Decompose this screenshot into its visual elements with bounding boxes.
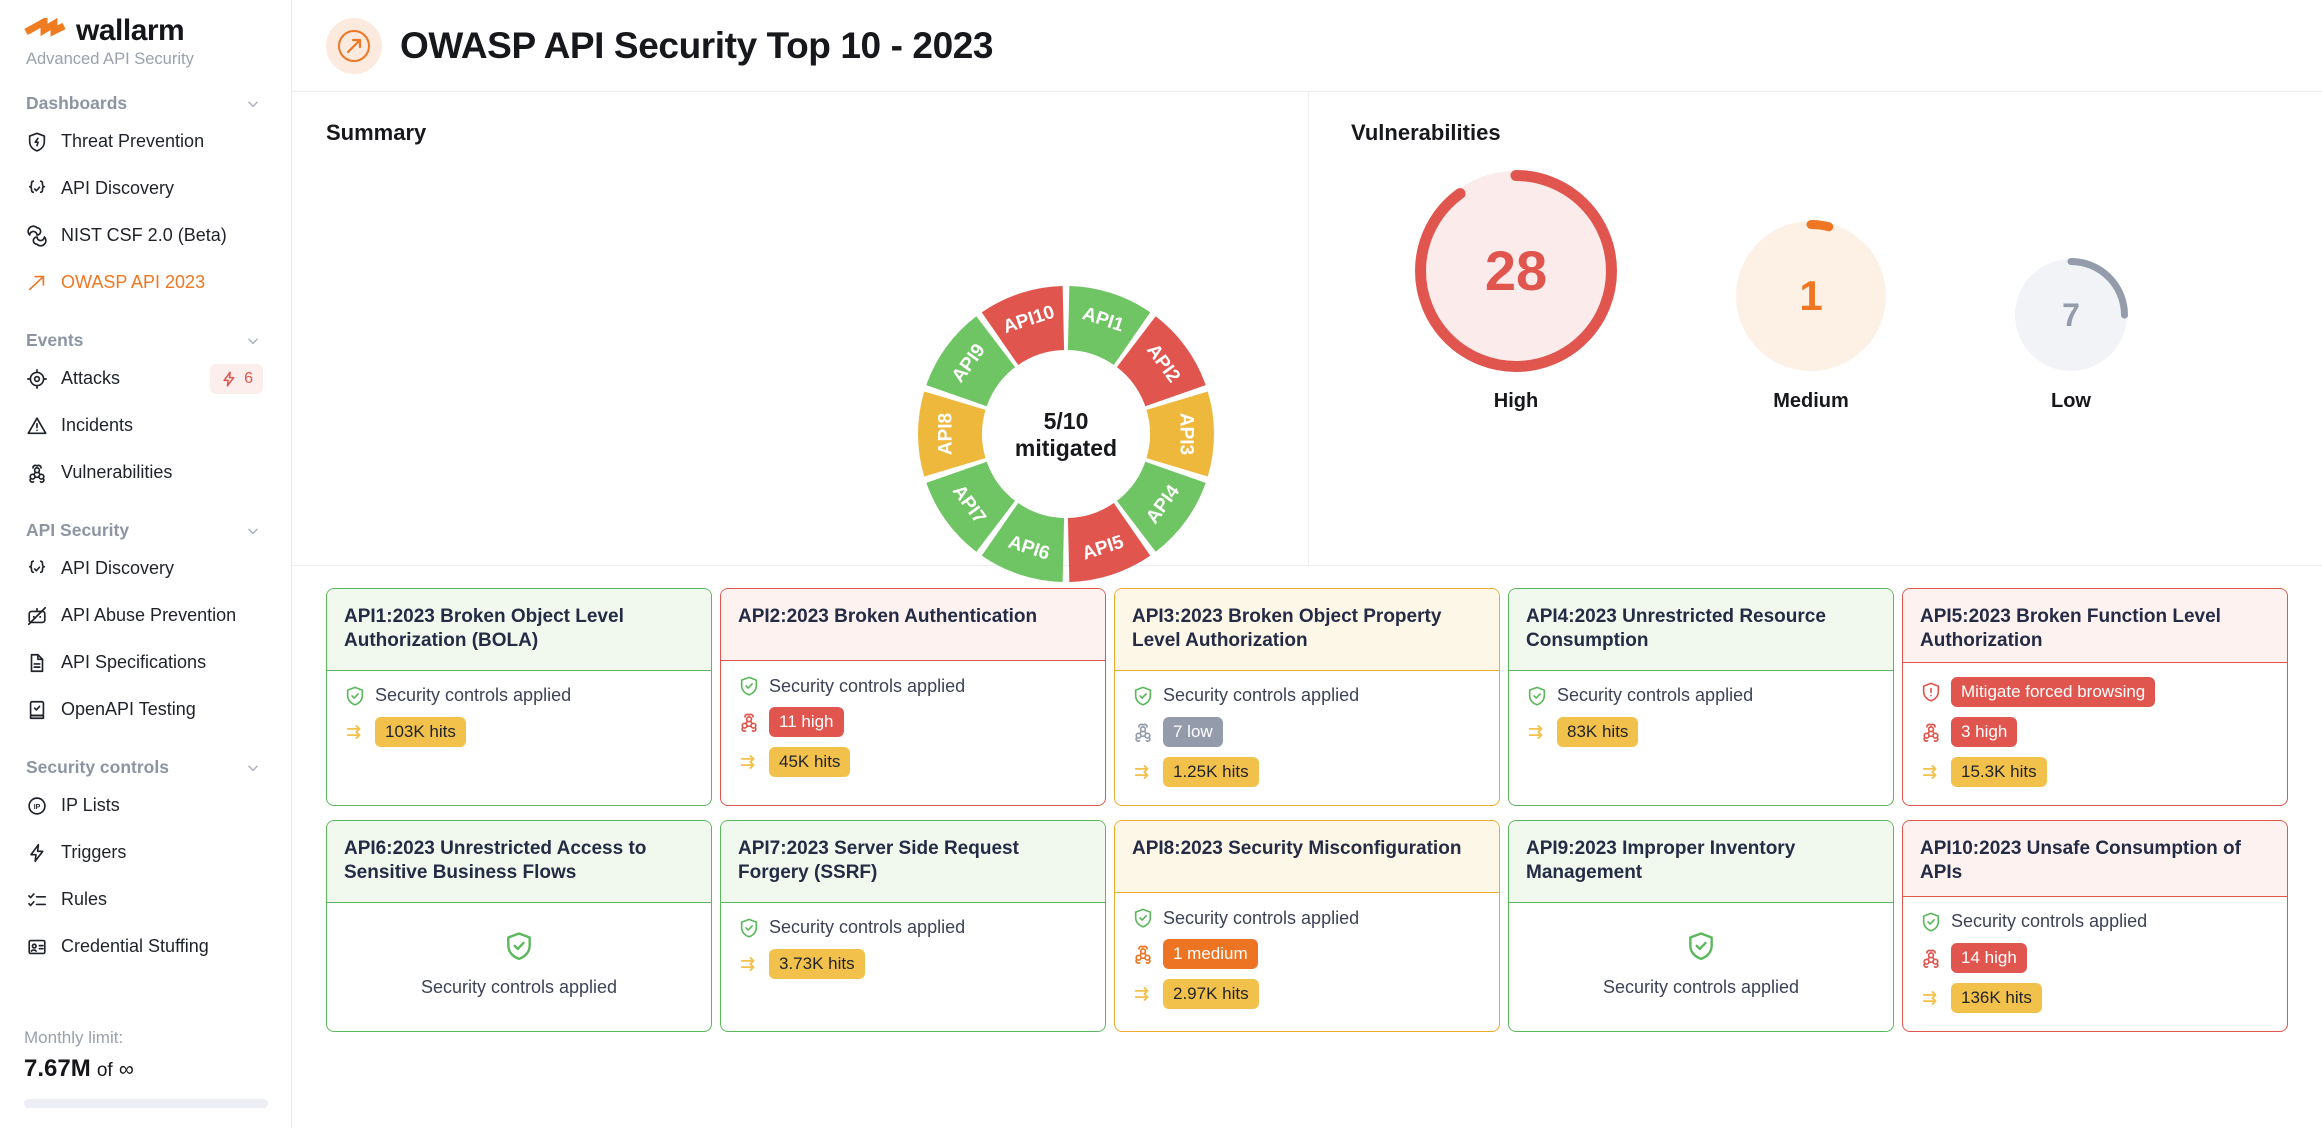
owasp-donut-chart: API1API2API3API4API5API6API7API8API9API1…: [892, 260, 1240, 608]
owasp-card-status-text: Security controls applied: [769, 676, 965, 697]
shield-check-icon: [1685, 930, 1717, 967]
page-title: OWASP API Security Top 10 - 2023: [400, 25, 993, 67]
sidebar-item-incidents[interactable]: Incidents: [24, 402, 267, 449]
id-card-icon: [26, 936, 48, 958]
owasp-card-title-api10: API10:2023 Unsafe Consumption of APIs: [1903, 821, 2287, 897]
vulnerabilities-heading: Vulnerabilities: [1351, 120, 2322, 146]
sidebar-item-label: Incidents: [61, 415, 133, 436]
checklist-icon: [26, 889, 48, 911]
owasp-card-status-api9: Security controls applied: [1603, 975, 1799, 999]
sidebar-item-api-abuse-prevention[interactable]: API Abuse Prevention: [24, 592, 267, 639]
hits-arrows-icon: [1526, 721, 1548, 743]
owasp-card-api5[interactable]: API5:2023 Broken Function Level Authoriz…: [1902, 588, 2288, 806]
braces-check-icon: [26, 558, 48, 580]
cards-row-2: API6:2023 Unrestricted Access to Sensiti…: [326, 820, 2288, 1032]
sidebar-item-attacks[interactable]: Attacks6: [24, 355, 267, 402]
donut-label-api3: API3: [1176, 413, 1197, 455]
robot-off-icon: [26, 605, 48, 627]
owasp-card-api4[interactable]: API4:2023 Unrestricted Resource Consumpt…: [1508, 588, 1894, 806]
page-header: OWASP API Security Top 10 - 2023: [292, 0, 2322, 92]
owasp-card-body-api9: Security controls applied: [1509, 903, 1893, 1031]
brand-name: wallarm: [76, 14, 184, 48]
owasp-card-body-api7: Security controls applied3.73K hits: [721, 903, 1105, 1031]
hits-arrows-icon: [1132, 761, 1154, 783]
braces-check-icon: [26, 178, 48, 200]
monthly-limit-number: 7.67M: [24, 1055, 91, 1082]
sidebar-section-label: Events: [26, 330, 83, 351]
owasp-card-line: 7 low: [1132, 717, 1482, 747]
sidebar-item-triggers[interactable]: Triggers: [24, 829, 267, 876]
sidebar-item-label: Triggers: [61, 842, 126, 863]
owasp-card-line: Security controls applied: [1920, 911, 2270, 933]
owasp-card-pill[interactable]: 83K hits: [1557, 717, 1638, 747]
owasp-card-title-api5: API5:2023 Broken Function Level Authoriz…: [1903, 589, 2287, 663]
brand-logo[interactable]: wallarm: [24, 0, 267, 48]
owasp-card-pill[interactable]: 11 high: [769, 707, 844, 737]
owasp-card-pill[interactable]: 7 low: [1163, 717, 1223, 747]
shield-check-icon: [503, 930, 535, 967]
hits-arrows-icon: [1132, 983, 1154, 1005]
sidebar-item-label: Vulnerabilities: [61, 462, 172, 483]
chevron-down-icon[interactable]: [245, 760, 267, 776]
owasp-card-title-api4: API4:2023 Unrestricted Resource Consumpt…: [1509, 589, 1893, 671]
sidebar-item-nist-csf-2-0-beta-[interactable]: NIST CSF 2.0 (Beta): [24, 212, 267, 259]
owasp-card-line: 11 high: [738, 707, 1088, 737]
monthly-limit-cap: ∞: [119, 1058, 134, 1081]
shield-alert-icon: [1920, 681, 1942, 703]
hits-arrows-icon: [738, 751, 760, 773]
sidebar-section-events[interactable]: Events: [24, 330, 267, 351]
owasp-arrow-icon: [326, 18, 382, 74]
owasp-card-body-api6: Security controls applied: [327, 903, 711, 1031]
app-root: wallarm Advanced API Security Dashboards…: [0, 0, 2322, 1128]
sidebar-section-dashboards[interactable]: Dashboards: [24, 93, 267, 114]
gauge-label-low: Low: [2051, 390, 2091, 413]
owasp-card-pill[interactable]: 1 medium: [1163, 939, 1258, 969]
biohazard-icon: [1132, 721, 1154, 743]
target-icon: [26, 368, 48, 390]
owasp-card-line: 83K hits: [1526, 717, 1876, 747]
owasp-card-api2[interactable]: API2:2023 Broken AuthenticationSecurity …: [720, 588, 1106, 806]
owasp-card-body-api3: Security controls applied7 low1.25K hits: [1115, 671, 1499, 805]
sidebar-item-vulnerabilities[interactable]: Vulnerabilities: [24, 449, 267, 496]
sidebar-item-credential-stuffing[interactable]: Credential Stuffing: [24, 923, 267, 970]
cards-row-1: API1:2023 Broken Object Level Authorizat…: [326, 588, 2288, 806]
owasp-card-line: 15.3K hits: [1920, 757, 2270, 787]
nist-pinwheel-icon: [26, 225, 48, 247]
owasp-card-body-api2: Security controls applied11 high45K hits: [721, 661, 1105, 805]
shield-check-icon: [1526, 685, 1548, 707]
gauge-value-high: 28: [1485, 243, 1547, 299]
owasp-card-line: 1.25K hits: [1132, 757, 1482, 787]
owasp-card-api10[interactable]: API10:2023 Unsafe Consumption of APIsSec…: [1902, 820, 2288, 1032]
sidebar-item-label: Attacks: [61, 368, 120, 389]
sidebar-item-label: OWASP API 2023: [61, 272, 205, 293]
owasp-card-api1[interactable]: API1:2023 Broken Object Level Authorizat…: [326, 588, 712, 806]
owasp-card-title-api6: API6:2023 Unrestricted Access to Sensiti…: [327, 821, 711, 903]
owasp-card-api7[interactable]: API7:2023 Server Side Request Forgery (S…: [720, 820, 1106, 1032]
sidebar: wallarm Advanced API Security Dashboards…: [0, 0, 292, 1128]
owasp-card-status-text: Security controls applied: [375, 685, 571, 706]
biohazard-icon: [1920, 947, 1942, 969]
gauge-label-high: High: [1494, 390, 1538, 413]
owasp-card-line: 3.73K hits: [738, 949, 1088, 979]
gauge-ring-medium: 1: [1735, 220, 1887, 372]
sidebar-item-threat-prevention[interactable]: Threat Prevention: [24, 118, 267, 165]
sidebar-section-api-security[interactable]: API Security: [24, 520, 267, 541]
gauge-ring-high: 28: [1415, 170, 1617, 372]
summary-heading: Summary: [326, 120, 1308, 146]
owasp-card-api3[interactable]: API3:2023 Broken Object Property Level A…: [1114, 588, 1500, 806]
owasp-card-line: 1 medium: [1132, 939, 1482, 969]
monthly-limit-of: of: [97, 1060, 113, 1081]
hits-arrows-icon: [344, 721, 366, 743]
sidebar-section-security-controls[interactable]: Security controls: [24, 757, 267, 778]
vulnerability-gauge-medium[interactable]: 1Medium: [1671, 220, 1951, 413]
donut-label-api8: API8: [936, 413, 957, 455]
owasp-card-pill[interactable]: 3.73K hits: [769, 949, 865, 979]
owasp-card-api9[interactable]: API9:2023 Improper Inventory ManagementS…: [1508, 820, 1894, 1032]
sidebar-item-label: OpenAPI Testing: [61, 699, 196, 720]
owasp-card-pill[interactable]: 2.97K hits: [1163, 979, 1259, 1009]
owasp-card-body-api8: Security controls applied1 medium2.97K h…: [1115, 893, 1499, 1031]
chevron-down-icon[interactable]: [245, 96, 267, 112]
donut-center-label: mitigated: [1015, 435, 1117, 461]
chevron-down-icon[interactable]: [245, 333, 267, 349]
vulnerability-gauge-high[interactable]: 28High: [1361, 170, 1671, 413]
owasp-cards-area: API1:2023 Broken Object Level Authorizat…: [292, 566, 2322, 1128]
owasp-card-line: 14 high: [1920, 943, 2270, 973]
owasp-card-status-text: Security controls applied: [1557, 685, 1753, 706]
chevron-down-icon[interactable]: [245, 523, 267, 539]
sidebar-item-label: Credential Stuffing: [61, 936, 209, 957]
sidebar-item-label: Rules: [61, 889, 107, 910]
shield-check-icon: [1132, 907, 1154, 929]
overview-panels: Summary API1API2API3API4API5API6API7API8…: [292, 92, 2322, 566]
sidebar-item-api-discovery[interactable]: API Discovery: [24, 165, 267, 212]
owasp-card-title-api1: API1:2023 Broken Object Level Authorizat…: [327, 589, 711, 671]
owasp-card-status-text: Security controls applied: [769, 917, 965, 938]
attacks-count: 6: [244, 370, 253, 388]
owasp-card-body-api10: Security controls applied14 high136K hit…: [1903, 897, 2287, 1031]
monthly-limit-value: 7.67M of ∞: [24, 1055, 268, 1083]
vulnerabilities-panel: Vulnerabilities 28High1Medium7Low: [1309, 92, 2322, 565]
owasp-card-pill[interactable]: Mitigate forced browsing: [1951, 677, 2155, 707]
owasp-card-body-api5: Mitigate forced browsing3 high15.3K hits: [1903, 663, 2287, 805]
svg-text:IP: IP: [34, 804, 41, 811]
owasp-card-pill[interactable]: 136K hits: [1951, 983, 2042, 1013]
brand-tagline: Advanced API Security: [24, 50, 267, 69]
owasp-card-pill[interactable]: 15.3K hits: [1951, 757, 2047, 787]
gauge-value-low: 7: [2062, 299, 2080, 331]
shield-check-icon: [1920, 911, 1942, 933]
document-icon: [26, 652, 48, 674]
owasp-card-status-text: Security controls applied: [1163, 908, 1359, 929]
owasp-card-status-text: Security controls applied: [1163, 685, 1359, 706]
attacks-count-badge[interactable]: 6: [210, 364, 263, 394]
owasp-card-line: Security controls applied: [1132, 685, 1482, 707]
sidebar-item-owasp-api-2023[interactable]: OWASP API 2023: [24, 259, 267, 306]
wallarm-logo-icon: [24, 18, 66, 44]
owasp-card-line: Security controls applied: [1526, 685, 1876, 707]
hits-arrows-icon: [1920, 761, 1942, 783]
hits-arrows-icon: [1920, 987, 1942, 1009]
biohazard-icon: [26, 462, 48, 484]
sidebar-section-label: Dashboards: [26, 93, 127, 114]
sidebar-section-label: Security controls: [26, 757, 169, 778]
owasp-card-body-api4: Security controls applied83K hits: [1509, 671, 1893, 805]
owasp-card-line: 136K hits: [1920, 983, 2270, 1013]
biohazard-icon: [738, 711, 760, 733]
warning-triangle-icon: [26, 415, 48, 437]
owasp-card-pill[interactable]: 103K hits: [375, 717, 466, 747]
gauge-value-medium: 1: [1799, 275, 1822, 317]
hits-arrows-icon: [738, 953, 760, 975]
owasp-card-title-api7: API7:2023 Server Side Request Forgery (S…: [721, 821, 1105, 903]
owasp-card-body-api1: Security controls applied103K hits: [327, 671, 711, 805]
owasp-card-line: 2.97K hits: [1132, 979, 1482, 1009]
owasp-card-pill[interactable]: 3 high: [1951, 717, 2017, 747]
owasp-card-api8[interactable]: API8:2023 Security MisconfigurationSecur…: [1114, 820, 1500, 1032]
vulnerability-gauge-low[interactable]: 7Low: [1951, 258, 2191, 413]
owasp-card-api6[interactable]: API6:2023 Unrestricted Access to Sensiti…: [326, 820, 712, 1032]
shield-check-icon: [738, 917, 760, 939]
owasp-card-line: 103K hits: [344, 717, 694, 747]
monthly-limit-label: Monthly limit:: [24, 1028, 268, 1048]
bolt-icon: [26, 842, 48, 864]
summary-panel: Summary API1API2API3API4API5API6API7API8…: [292, 92, 1309, 565]
ip-circle-icon: IP: [26, 795, 48, 817]
book-check-icon: [26, 699, 48, 721]
owasp-card-line: Security controls applied: [738, 917, 1088, 939]
owasp-card-status-text: Security controls applied: [1951, 911, 2147, 932]
owasp-card-line: Mitigate forced browsing: [1920, 677, 2270, 707]
monthly-limit: Monthly limit: 7.67M of ∞: [24, 1028, 268, 1108]
sidebar-item-label: API Specifications: [61, 652, 206, 673]
monthly-limit-progressbar: [24, 1099, 268, 1108]
main-content: OWASP API Security Top 10 - 2023 Summary…: [292, 0, 2322, 1128]
sidebar-section-label: API Security: [26, 520, 129, 541]
sidebar-item-label: Threat Prevention: [61, 131, 204, 152]
sidebar-item-label: NIST CSF 2.0 (Beta): [61, 225, 227, 246]
sidebar-item-label: API Discovery: [61, 178, 174, 199]
sidebar-item-label: IP Lists: [61, 795, 120, 816]
shield-check-icon: [344, 685, 366, 707]
sidebar-item-api-specifications[interactable]: API Specifications: [24, 639, 267, 686]
shield-bolt-icon: [26, 131, 48, 153]
gauge-ring-low: 7: [2014, 258, 2128, 372]
sidebar-item-openapi-testing[interactable]: OpenAPI Testing: [24, 686, 267, 733]
owasp-card-line: Security controls applied: [344, 685, 694, 707]
biohazard-icon: [1920, 721, 1942, 743]
donut-center-fraction: 5/10: [1044, 408, 1089, 434]
owasp-card-line: Security controls applied: [1132, 907, 1482, 929]
owasp-card-line: 3 high: [1920, 717, 2270, 747]
owasp-card-status-api6: Security controls applied: [421, 975, 617, 999]
gauge-label-medium: Medium: [1773, 390, 1849, 413]
sidebar-nav: DashboardsThreat PreventionAPI Discovery…: [24, 93, 267, 970]
owasp-card-line: Security controls applied: [738, 675, 1088, 697]
shield-check-icon: [738, 675, 760, 697]
sidebar-item-label: API Abuse Prevention: [61, 605, 236, 626]
owasp-card-pill[interactable]: 45K hits: [769, 747, 850, 777]
sidebar-item-api-discovery[interactable]: API Discovery: [24, 545, 267, 592]
owasp-card-line: 45K hits: [738, 747, 1088, 777]
owasp-card-pill[interactable]: 14 high: [1951, 943, 2027, 973]
sidebar-item-ip-lists[interactable]: IPIP Lists: [24, 782, 267, 829]
owasp-card-title-api9: API9:2023 Improper Inventory Management: [1509, 821, 1893, 903]
sidebar-item-label: API Discovery: [61, 558, 174, 579]
bolt-icon: [220, 370, 238, 388]
shield-check-icon: [1132, 685, 1154, 707]
owasp-card-pill[interactable]: 1.25K hits: [1163, 757, 1259, 787]
vulnerability-gauges: 28High1Medium7Low: [1351, 170, 2322, 413]
arrow-up-right-icon: [26, 272, 48, 294]
sidebar-item-rules[interactable]: Rules: [24, 876, 267, 923]
owasp-card-title-api8: API8:2023 Security Misconfiguration: [1115, 821, 1499, 893]
biohazard-icon: [1132, 943, 1154, 965]
